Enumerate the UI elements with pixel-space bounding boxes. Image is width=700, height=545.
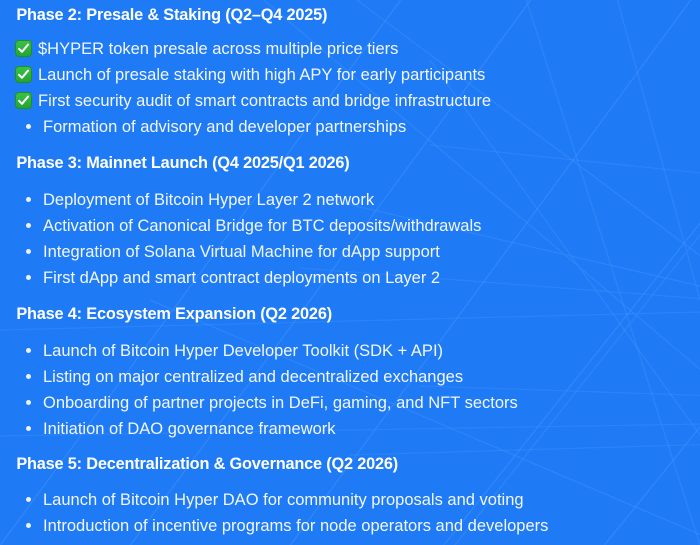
list-item-label: Introduction of incentive programs for n… (43, 513, 548, 539)
phase-block-2: Phase 2: Presale & Staking (Q2–Q4 2025) … (0, 0, 700, 140)
phase-heading: Phase 2: Presale & Staking (Q2–Q4 2025) (0, 5, 672, 36)
check-icon (15, 66, 32, 83)
bullet-dot-icon (26, 400, 31, 405)
list-item-label: Initiation of DAO governance framework (43, 416, 336, 442)
bullet-dot-icon (26, 426, 31, 431)
check-icon (15, 92, 32, 109)
list-item-label: First dApp and smart contract deployment… (43, 265, 440, 291)
list-item-label: Deployment of Bitcoin Hyper Layer 2 netw… (43, 187, 374, 213)
phase-item-list: Launch of Bitcoin Hyper DAO for communit… (0, 487, 700, 539)
list-item-label: Formation of advisory and developer part… (43, 114, 406, 140)
list-item-label: Listing on major centralized and decentr… (43, 364, 463, 390)
bullet-dot-icon (26, 223, 31, 228)
list-item-label: Activation of Canonical Bridge for BTC d… (43, 213, 481, 239)
list-item-label: Launch of presale staking with high APY … (38, 62, 485, 88)
list-item-label: Launch of Bitcoin Hyper Developer Toolki… (43, 338, 443, 364)
bullet-dot-icon (26, 374, 31, 379)
phase-item-list: Launch of Bitcoin Hyper Developer Toolki… (0, 338, 700, 442)
list-item: Listing on major centralized and decentr… (0, 364, 700, 390)
bullet-dot-icon (26, 275, 31, 280)
list-item: Deployment of Bitcoin Hyper Layer 2 netw… (0, 187, 700, 213)
list-item: Launch of Bitcoin Hyper Developer Toolki… (0, 338, 700, 364)
phase-heading: Phase 3: Mainnet Launch (Q4 2025/Q1 2026… (0, 153, 672, 187)
list-item-label: $HYPER token presale across multiple pri… (38, 36, 398, 62)
list-item: Activation of Canonical Bridge for BTC d… (0, 213, 700, 239)
phase-block-4: Phase 4: Ecosystem Expansion (Q2 2026) L… (0, 291, 700, 442)
phase-item-list: Deployment of Bitcoin Hyper Layer 2 netw… (0, 187, 700, 291)
phase-block-5: Phase 5: Decentralization & Governance (… (0, 442, 700, 539)
list-item: First security audit of smart contracts … (0, 88, 700, 114)
list-item: Introduction of incentive programs for n… (0, 513, 700, 539)
bullet-dot-icon (26, 197, 31, 202)
list-item-label: Integration of Solana Virtual Machine fo… (43, 239, 440, 265)
list-item: First dApp and smart contract deployment… (0, 265, 700, 291)
bullet-dot-icon (26, 523, 31, 528)
bullet-dot-icon (26, 249, 31, 254)
check-icon (15, 40, 32, 57)
bullet-dot-icon (26, 497, 31, 502)
list-item-label: Launch of Bitcoin Hyper DAO for communit… (43, 487, 524, 513)
phase-item-list: $HYPER token presale across multiple pri… (0, 36, 700, 140)
phase-heading: Phase 4: Ecosystem Expansion (Q2 2026) (0, 304, 672, 338)
phase-block-3: Phase 3: Mainnet Launch (Q4 2025/Q1 2026… (0, 140, 700, 291)
bullet-dot-icon (26, 348, 31, 353)
list-item-label: First security audit of smart contracts … (38, 88, 491, 114)
list-item: Launch of Bitcoin Hyper DAO for communit… (0, 487, 700, 513)
list-item: Integration of Solana Virtual Machine fo… (0, 239, 700, 265)
bullet-dot-icon (26, 124, 31, 129)
list-item: Onboarding of partner projects in DeFi, … (0, 390, 700, 416)
list-item-label: Onboarding of partner projects in DeFi, … (43, 390, 518, 416)
roadmap-page: Phase 2: Presale & Staking (Q2–Q4 2025) … (0, 0, 700, 545)
phase-heading: Phase 5: Decentralization & Governance (… (0, 454, 672, 487)
list-item: Launch of presale staking with high APY … (0, 62, 700, 88)
list-item: Formation of advisory and developer part… (0, 114, 700, 140)
list-item: $HYPER token presale across multiple pri… (0, 36, 700, 62)
roadmap-content: Phase 2: Presale & Staking (Q2–Q4 2025) … (0, 0, 700, 539)
list-item: Initiation of DAO governance framework (0, 416, 700, 442)
